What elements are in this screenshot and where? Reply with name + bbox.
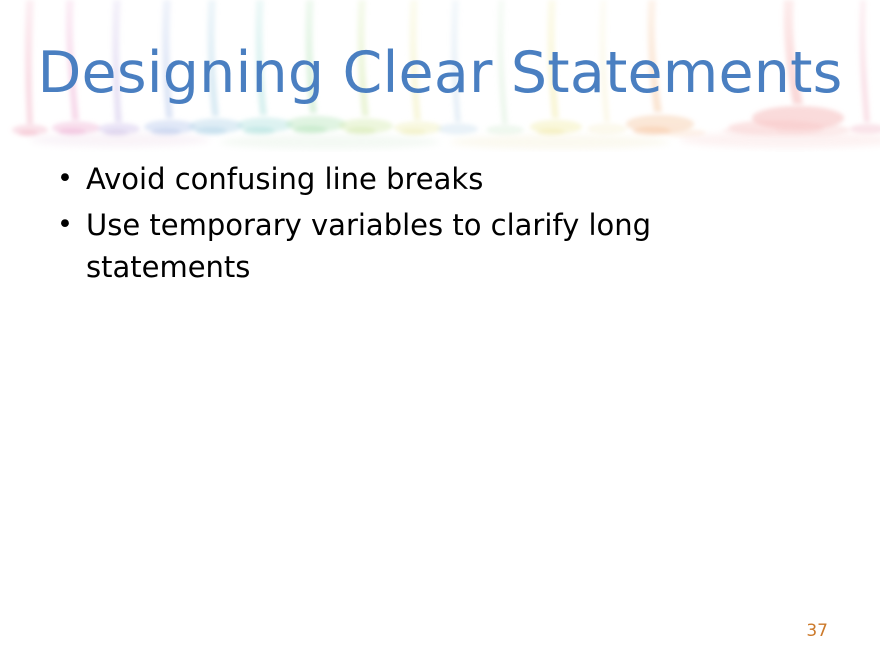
list-item: • Use temporary variables to clarify lon…	[48, 204, 832, 288]
bullet-list: • Avoid confusing line breaks • Use temp…	[48, 158, 832, 292]
slide-title: Designing Clear Statements	[0, 44, 880, 104]
list-item: • Avoid confusing line breaks	[48, 158, 832, 200]
bullet-point-icon: •	[57, 204, 73, 246]
bullet-point-icon: •	[57, 158, 73, 200]
list-item-label: Avoid confusing line breaks	[86, 158, 483, 200]
list-item-label: Use temporary variables to clarify long …	[86, 204, 786, 288]
page-number: 37	[806, 623, 828, 640]
slide-canvas: Designing Clear Statements • Avoid confu…	[0, 0, 880, 660]
